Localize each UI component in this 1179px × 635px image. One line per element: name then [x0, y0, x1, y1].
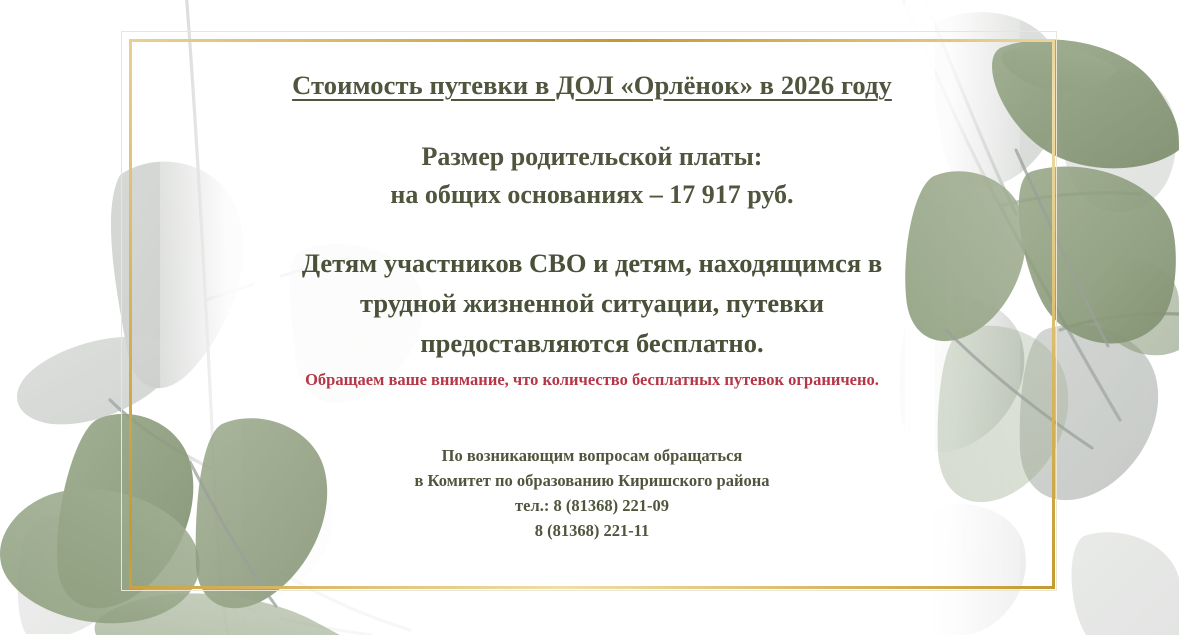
- contacts-phone-2: 8 (81368) 221-11: [150, 518, 1034, 543]
- poster-canvas: Стоимость путевки в ДОЛ «Орлёнок» в 2026…: [0, 0, 1179, 635]
- limited-availability-notice: Обращаем ваше внимание, что количество б…: [150, 370, 1034, 390]
- free-voucher-line-3: предоставляются бесплатно.: [150, 323, 1034, 363]
- contacts-block: По возникающим вопросам обращаться в Ком…: [150, 443, 1034, 543]
- parent-fee-amount-line: на общих основаниях – 17 917 руб.: [150, 176, 1034, 214]
- contacts-line-2: в Комитет по образованию Киришского райо…: [150, 468, 1034, 493]
- free-voucher-line-2: трудной жизненной ситуации, путевки: [150, 283, 1034, 323]
- poster-title: Стоимость путевки в ДОЛ «Орлёнок» в 2026…: [150, 70, 1034, 101]
- contacts-line-1: По возникающим вопросам обращаться: [150, 443, 1034, 468]
- contacts-phone-1: тел.: 8 (81368) 221-09: [150, 493, 1034, 518]
- parent-fee-label: Размер родительской платы:: [150, 138, 1034, 176]
- free-voucher-block: Детям участников СВО и детям, находящимс…: [150, 243, 1034, 363]
- parent-fee-block: Размер родительской платы: на общих осно…: [150, 138, 1034, 214]
- poster-content: Стоимость путевки в ДОЛ «Орлёнок» в 2026…: [150, 0, 1034, 635]
- free-voucher-line-1: Детям участников СВО и детям, находящимс…: [150, 243, 1034, 283]
